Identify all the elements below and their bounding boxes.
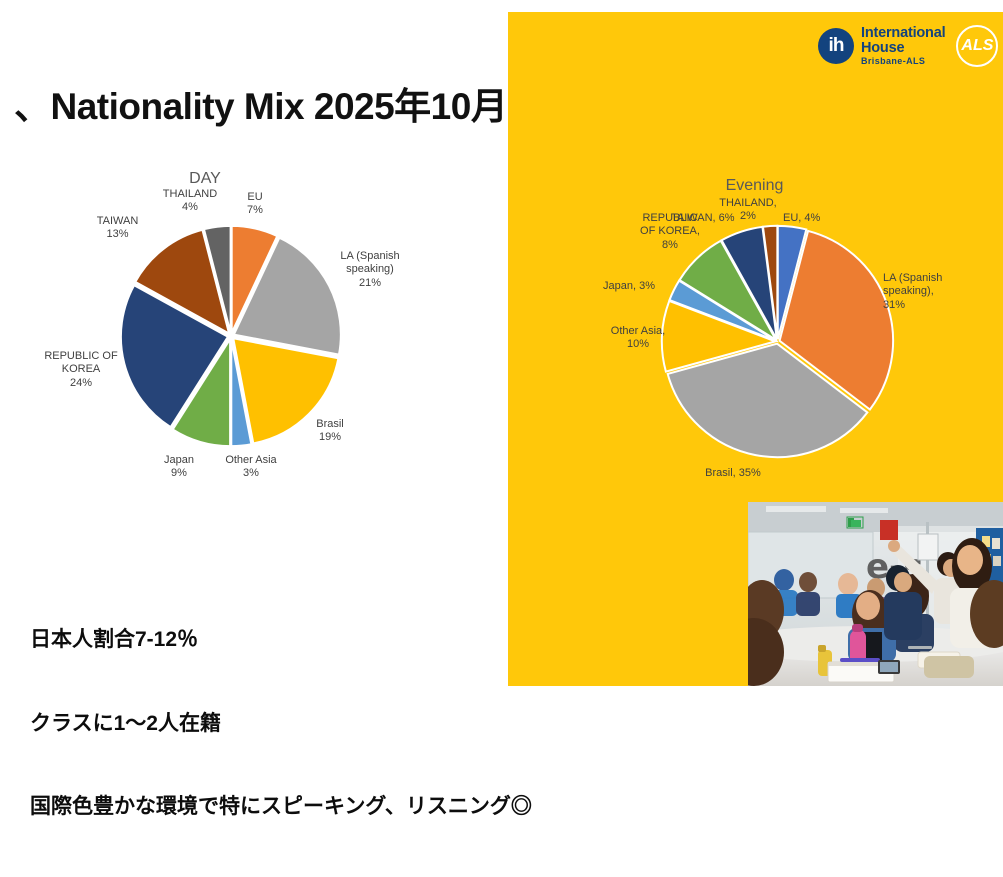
day-label-la: LA (Spanish speaking) 21%: [325, 250, 415, 290]
day-label-eu: EU 7%: [225, 191, 285, 218]
slide-canvas: ih International House Brisbane-ALS ALS …: [0, 0, 1003, 686]
brand-line-3: Brisbane-ALS: [861, 57, 945, 66]
note-line-3: 国際色豊かな環境で特にスピーキング、リスニング◎: [30, 793, 532, 821]
bottom-notes: 日本人割合7-12％ クラスに1〜2人在籍 国際色豊かな環境で特にスピーキング、…: [30, 570, 532, 877]
chart-day: DAY THAILAND 4% EU 7% TAIWAN 13% LA (Spa…: [0, 170, 500, 500]
chart-day-title: DAY: [0, 170, 455, 188]
evening-pie-svg: [660, 224, 895, 459]
day-label-japan: Japan 9%: [148, 454, 210, 481]
brand-line-1: International: [861, 26, 945, 41]
day-label-korea: REPUBLIC OF KOREA 24%: [35, 350, 127, 390]
evening-label-la: LA (Spanish speaking), 31%: [883, 272, 973, 312]
classroom-photo: e-s: [748, 502, 1003, 686]
evening-label-other-asia: Other Asia, 10%: [596, 325, 680, 352]
brand-line-2: House: [861, 41, 945, 56]
note-line-1: 日本人割合7-12％: [30, 626, 532, 654]
chart-evening-pie: [660, 224, 895, 459]
brand-logo: ih International House Brisbane-ALS ALS: [818, 22, 990, 70]
classroom-photo-image: e-s: [748, 502, 1003, 686]
evening-label-eu: EU, 4%: [783, 212, 853, 225]
ih-badge-icon: ih: [818, 28, 854, 64]
note-line-2: クラスに1〜2人在籍: [30, 710, 532, 738]
day-pie-svg: [120, 225, 342, 447]
chart-evening-title: Evening: [507, 177, 1002, 195]
chart-day-pie: [120, 225, 342, 447]
day-label-brasil: Brasil 19%: [295, 418, 365, 445]
day-label-taiwan: TAIWAN 13%: [75, 215, 160, 242]
evening-label-japan: Japan, 3%: [603, 280, 683, 293]
evening-label-brasil: Brasil, 35%: [688, 467, 778, 480]
chart-evening: Evening THAILAND, 2% EU, 4% REPUBLIC OF …: [508, 172, 1003, 502]
brand-wordmark: International House Brisbane-ALS: [861, 26, 945, 66]
page-title: 、Nationality Mix 2025年10月: [14, 76, 507, 130]
day-label-other-asia: Other Asia 3%: [213, 454, 289, 481]
day-label-thailand: THAILAND 4%: [145, 188, 235, 215]
evening-label-taiwan: TAIWAN, 6%: [671, 212, 761, 225]
